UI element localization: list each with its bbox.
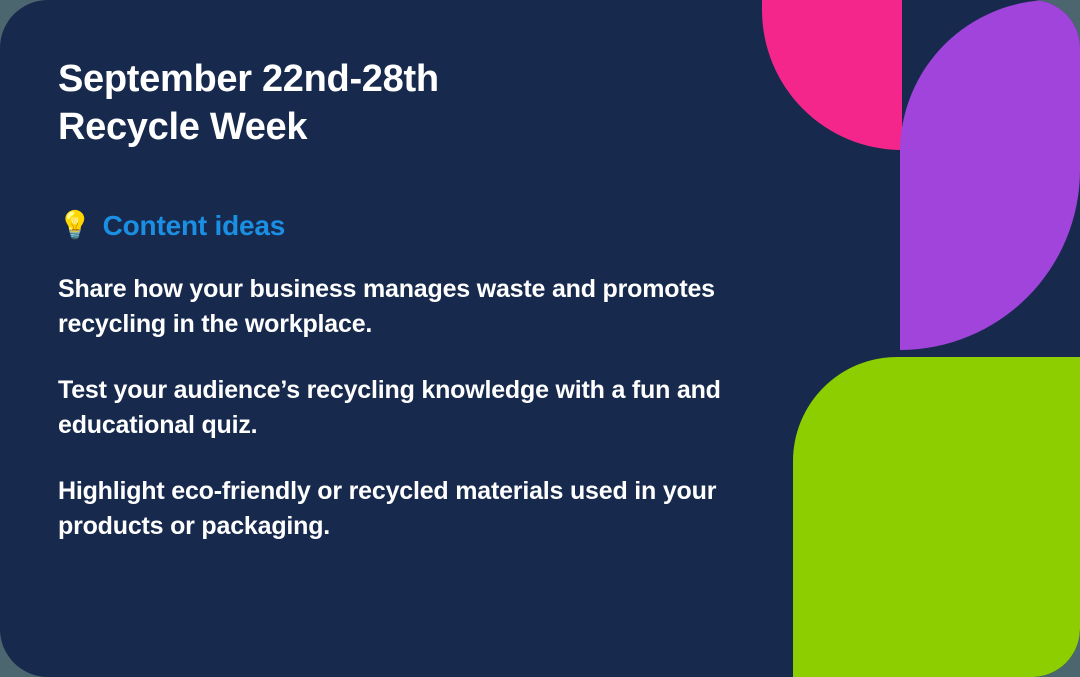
content-idea-card: September 22nd-28th Recycle Week 💡 Conte… bbox=[0, 0, 1080, 677]
content-ideas-list: Share how your business manages waste an… bbox=[58, 272, 758, 545]
list-item: Share how your business manages waste an… bbox=[58, 272, 748, 343]
page-title: September 22nd-28th Recycle Week bbox=[58, 55, 758, 152]
purple-rounded-block-shape bbox=[900, 0, 1080, 350]
pink-quarter-circle-shape bbox=[762, 0, 902, 150]
card-content: September 22nd-28th Recycle Week 💡 Conte… bbox=[58, 55, 758, 545]
lightbulb-icon: 💡 bbox=[58, 212, 92, 239]
green-rounded-block-shape bbox=[793, 357, 1080, 677]
list-item: Highlight eco-friendly or recycled mater… bbox=[58, 474, 748, 545]
list-item: Test your audience’s recycling knowledge… bbox=[58, 373, 748, 444]
content-ideas-heading: 💡 Content ideas bbox=[58, 210, 758, 242]
content-ideas-label: Content ideas bbox=[103, 210, 286, 242]
